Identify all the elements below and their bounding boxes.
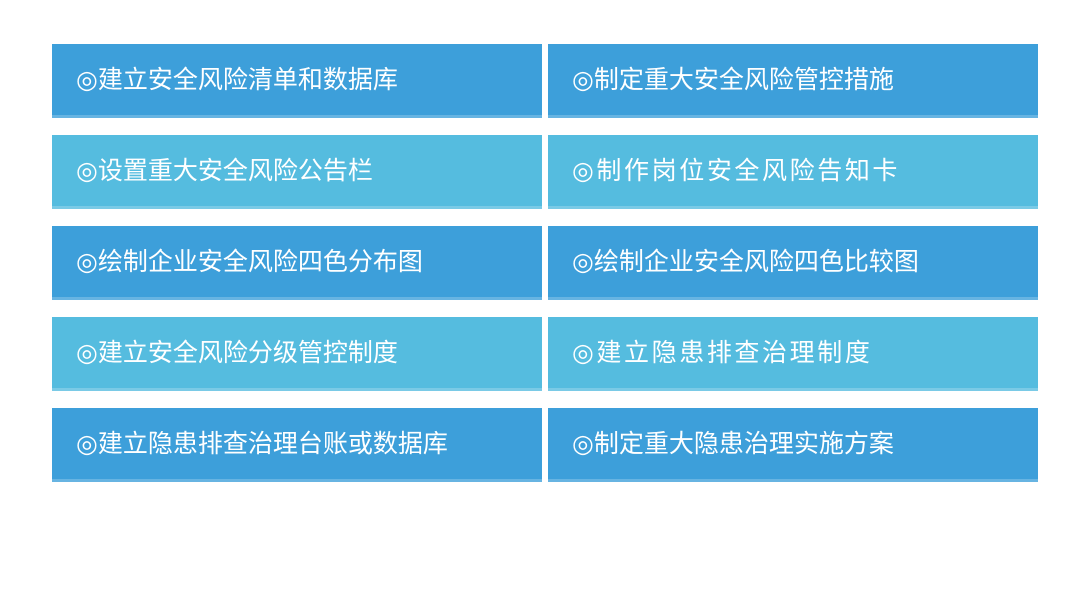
task-card-label: ◎设置重大安全风险公告栏 bbox=[76, 158, 373, 186]
task-card-label: ◎建立隐患排查治理台账或数据库 bbox=[76, 431, 448, 459]
task-card[interactable]: ◎制定重大隐患治理实施方案 bbox=[548, 408, 1038, 482]
task-card-grid: ◎建立安全风险清单和数据库 ◎制定重大安全风险管控措施 ◎设置重大安全风险公告栏… bbox=[52, 44, 1038, 482]
task-card[interactable]: ◎建立安全风险分级管控制度 bbox=[52, 317, 542, 391]
task-card-label: ◎建立安全风险清单和数据库 bbox=[76, 67, 398, 95]
task-card[interactable]: ◎绘制企业安全风险四色比较图 bbox=[548, 226, 1038, 300]
task-card[interactable]: ◎建立隐患排查治理制度 bbox=[548, 317, 1038, 391]
task-card[interactable]: ◎绘制企业安全风险四色分布图 bbox=[52, 226, 542, 300]
task-card-label: ◎建立隐患排查治理制度 bbox=[572, 340, 872, 368]
task-card-label: ◎绘制企业安全风险四色比较图 bbox=[572, 249, 919, 277]
task-card-label: ◎制定重大隐患治理实施方案 bbox=[572, 431, 894, 459]
task-card-label: ◎制定重大安全风险管控措施 bbox=[572, 67, 894, 95]
task-card[interactable]: ◎设置重大安全风险公告栏 bbox=[52, 135, 542, 209]
task-card[interactable]: ◎建立安全风险清单和数据库 bbox=[52, 44, 542, 118]
task-card-label: ◎制作岗位安全风险告知卡 bbox=[572, 158, 900, 186]
task-card[interactable]: ◎制作岗位安全风险告知卡 bbox=[548, 135, 1038, 209]
task-card[interactable]: ◎建立隐患排查治理台账或数据库 bbox=[52, 408, 542, 482]
slide-canvas: ◎建立安全风险清单和数据库 ◎制定重大安全风险管控措施 ◎设置重大安全风险公告栏… bbox=[0, 0, 1089, 597]
task-card-label: ◎建立安全风险分级管控制度 bbox=[76, 340, 398, 368]
task-card[interactable]: ◎制定重大安全风险管控措施 bbox=[548, 44, 1038, 118]
task-card-label: ◎绘制企业安全风险四色分布图 bbox=[76, 249, 423, 277]
